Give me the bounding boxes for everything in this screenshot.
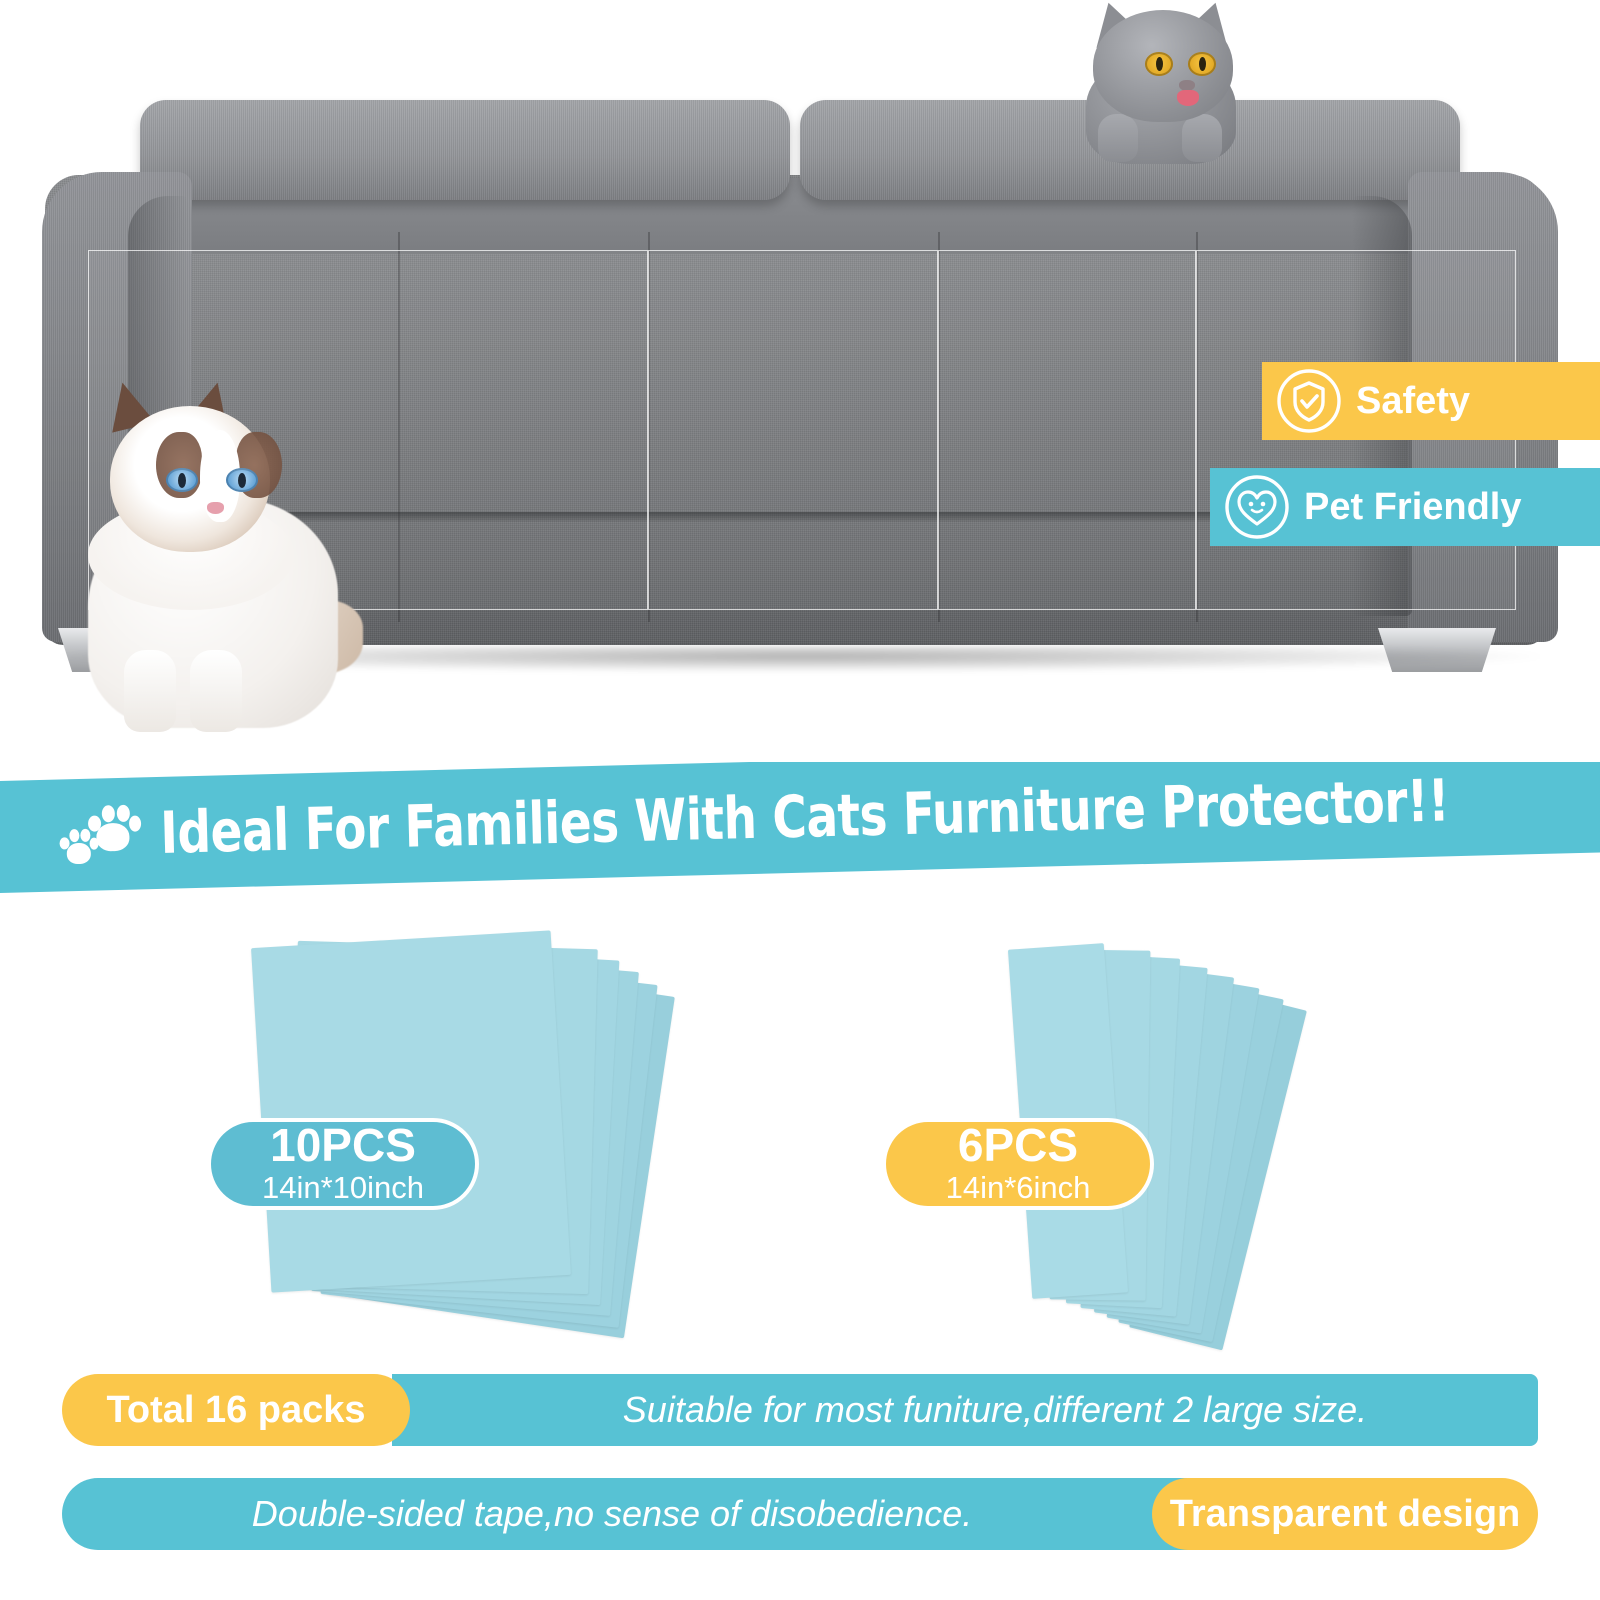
ragdoll-eye-left: [166, 468, 198, 492]
cat-eye-right: [1188, 52, 1216, 76]
sofa-back-cushion-left: [140, 100, 790, 200]
feature-row-1-badge-label: Total 16 packs: [106, 1389, 365, 1432]
feature-row-1-badge: Total 16 packs: [62, 1374, 410, 1446]
feature-row-1: Suitable for most funiture,different 2 l…: [62, 1374, 1538, 1446]
pill-10-pcs: 10PCS 14in*10inch: [207, 1118, 479, 1210]
paw-prints-icon: [58, 800, 146, 868]
feature-row-2-text: Double-sided tape,no sense of disobedien…: [252, 1493, 973, 1535]
feature-row-2-bar: Double-sided tape,no sense of disobedien…: [62, 1478, 1232, 1550]
badge-pet-friendly: Pet Friendly: [1210, 468, 1600, 546]
product-infographic-page: Safety Pet Friendly: [0, 0, 1600, 1600]
cat-head: [1093, 10, 1233, 122]
ragdoll-cat: [70, 388, 370, 728]
heart-face-icon: [1224, 474, 1290, 540]
pill-6-pcs-subtitle: 14in*6inch: [946, 1170, 1091, 1207]
ragdoll-nose: [207, 502, 224, 514]
badge-pet-friendly-label: Pet Friendly: [1304, 486, 1522, 529]
protector-panel-2: [648, 250, 938, 610]
ragdoll-front-leg-left: [124, 650, 176, 732]
cat-paw-left: [1098, 114, 1138, 162]
ragdoll-head: [110, 406, 270, 552]
ragdoll-front-leg-right: [190, 650, 242, 732]
cat-tongue: [1177, 90, 1199, 106]
feature-row-2-badge-label: Transparent design: [1170, 1493, 1521, 1536]
ragdoll-eye-right: [226, 468, 258, 492]
shield-check-icon: [1276, 368, 1342, 434]
headline-banner-text: Ideal For Families With Cats Furniture P…: [159, 766, 1449, 867]
badge-safety: Safety: [1262, 362, 1600, 440]
feature-row-1-bar: Suitable for most funiture,different 2 l…: [392, 1374, 1538, 1446]
pill-10-pcs-subtitle: 14in*10inch: [262, 1170, 424, 1207]
british-shorthair-cat: [1068, 2, 1258, 162]
protector-panel-3: [938, 250, 1196, 610]
feature-row-2: Double-sided tape,no sense of disobedien…: [62, 1478, 1538, 1550]
badge-safety-label: Safety: [1356, 380, 1470, 423]
sheet-large-1: [251, 930, 571, 1292]
pill-6-pcs-title: 6PCS: [958, 1122, 1078, 1168]
hero-sofa-scene: Safety Pet Friendly: [0, 0, 1600, 770]
cat-eye-left: [1145, 52, 1173, 76]
feature-row-1-text: Suitable for most funiture,different 2 l…: [623, 1389, 1367, 1431]
pill-10-pcs-title: 10PCS: [270, 1122, 416, 1168]
feature-row-2-badge: Transparent design: [1152, 1478, 1538, 1550]
pill-6-pcs: 6PCS 14in*6inch: [882, 1118, 1154, 1210]
cat-paw-right: [1182, 114, 1222, 162]
